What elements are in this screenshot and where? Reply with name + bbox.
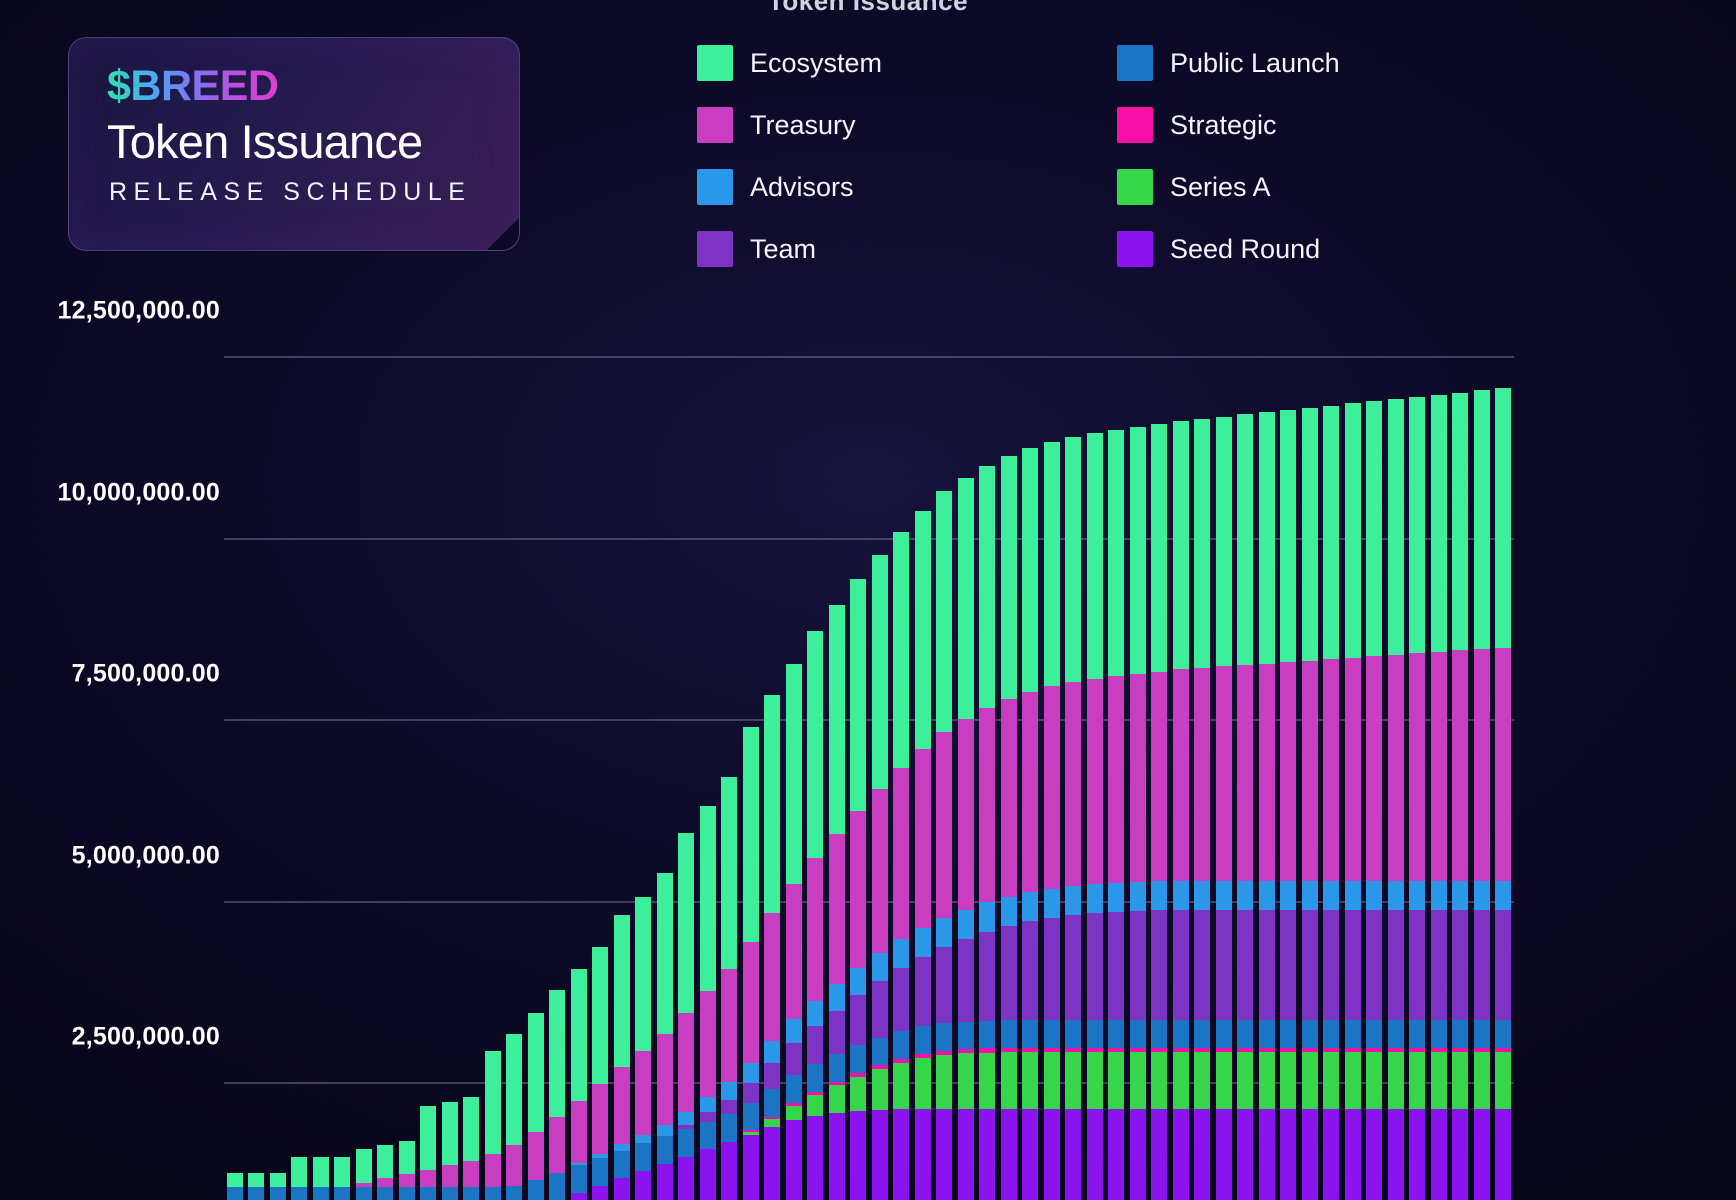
bar-segment-seed-round bbox=[958, 1109, 974, 1200]
bar-segment-public-launch bbox=[936, 1023, 952, 1051]
bar-segment-seed-round bbox=[1388, 1109, 1404, 1200]
bar-segment-treasury bbox=[1474, 649, 1490, 881]
bar-segment-treasury bbox=[872, 789, 888, 953]
bar-segment-ecosystem bbox=[1345, 403, 1361, 657]
bar-segment-advisors bbox=[678, 1112, 694, 1125]
bar-segment-series-a bbox=[1087, 1052, 1103, 1109]
bar-column[interactable] bbox=[482, 311, 504, 1200]
bar-column[interactable] bbox=[418, 311, 440, 1200]
bar-segment-team bbox=[1216, 910, 1232, 1020]
bar-column[interactable] bbox=[1235, 311, 1257, 1200]
bar-segment-ecosystem bbox=[356, 1149, 372, 1182]
bar-column[interactable] bbox=[504, 311, 526, 1200]
bar-segment-public-launch bbox=[1259, 1020, 1275, 1048]
legend-label: Treasury bbox=[750, 110, 856, 141]
bar-segment-public-launch bbox=[1345, 1020, 1361, 1048]
bar-segment-treasury bbox=[377, 1178, 393, 1187]
bar-column[interactable] bbox=[633, 311, 655, 1200]
bar-stack bbox=[1474, 390, 1490, 1200]
bar-column[interactable] bbox=[1321, 311, 1343, 1200]
bar-stack bbox=[1151, 424, 1167, 1200]
bar-segment-series-a bbox=[915, 1058, 931, 1109]
bar-segment-team bbox=[786, 1043, 802, 1075]
bar-column[interactable] bbox=[224, 311, 246, 1200]
bar-segment-seed-round bbox=[1431, 1109, 1447, 1200]
bar-stack bbox=[227, 1173, 243, 1200]
bar-column[interactable] bbox=[783, 311, 805, 1200]
bar-segment-public-launch bbox=[442, 1187, 458, 1200]
bar-column[interactable] bbox=[1493, 311, 1515, 1200]
bar-segment-seed-round bbox=[1216, 1109, 1232, 1200]
bar-segment-team bbox=[1173, 910, 1189, 1020]
legend-swatch-icon bbox=[1117, 107, 1153, 143]
bar-segment-seed-round bbox=[1345, 1109, 1361, 1200]
legend-label: Advisors bbox=[750, 172, 854, 203]
legend-label: Team bbox=[750, 234, 816, 265]
bar-segment-ecosystem bbox=[1216, 417, 1232, 667]
bar-column[interactable] bbox=[1192, 311, 1214, 1200]
bar-segment-advisors bbox=[1452, 881, 1468, 910]
bar-stack bbox=[743, 727, 759, 1200]
bar-segment-ecosystem bbox=[1431, 395, 1447, 652]
bar-segment-team bbox=[872, 981, 888, 1038]
bar-segment-treasury bbox=[1280, 662, 1296, 881]
bar-segment-ecosystem bbox=[1474, 390, 1490, 649]
bar-segment-ecosystem bbox=[549, 990, 565, 1117]
bar-segment-advisors bbox=[1087, 884, 1103, 913]
bar-segment-seed-round bbox=[721, 1142, 737, 1200]
bar-stack bbox=[248, 1173, 264, 1200]
bar-segment-advisors bbox=[1474, 881, 1490, 910]
bar-column[interactable] bbox=[998, 311, 1020, 1200]
bar-column[interactable] bbox=[1041, 311, 1063, 1200]
bar-segment-advisors bbox=[1388, 881, 1404, 910]
bar-column[interactable] bbox=[310, 311, 332, 1200]
bar-column[interactable] bbox=[246, 311, 268, 1200]
bar-segment-public-launch bbox=[635, 1143, 651, 1171]
bar-column[interactable] bbox=[439, 311, 461, 1200]
bar-column[interactable] bbox=[1020, 311, 1042, 1200]
bar-segment-team bbox=[1022, 921, 1038, 1020]
bar-segment-treasury bbox=[614, 1067, 630, 1144]
bar-segment-ecosystem bbox=[334, 1157, 350, 1187]
bar-segment-ecosystem bbox=[764, 695, 780, 913]
bar-segment-public-launch bbox=[1216, 1020, 1232, 1048]
y-axis-tick-label: 12,500,000.00 bbox=[58, 297, 220, 326]
bar-column[interactable] bbox=[1471, 311, 1493, 1200]
bar-column[interactable] bbox=[1342, 311, 1364, 1200]
bar-column[interactable] bbox=[1063, 311, 1085, 1200]
bar-segment-public-launch bbox=[313, 1187, 329, 1200]
bar-column[interactable] bbox=[955, 311, 977, 1200]
bar-segment-public-launch bbox=[786, 1075, 802, 1103]
bar-segment-treasury bbox=[1323, 659, 1339, 881]
bar-segment-advisors bbox=[1108, 883, 1124, 912]
bar-stack bbox=[721, 777, 737, 1200]
bar-segment-team bbox=[936, 947, 952, 1023]
bar-segment-public-launch bbox=[678, 1129, 694, 1157]
bar-segment-ecosystem bbox=[979, 466, 995, 708]
bar-column[interactable] bbox=[375, 311, 397, 1200]
bar-segment-public-launch bbox=[227, 1187, 243, 1200]
bar-segment-public-launch bbox=[872, 1038, 888, 1066]
bar-segment-treasury bbox=[506, 1145, 522, 1186]
bar-segment-public-launch bbox=[506, 1186, 522, 1200]
bar-segment-public-launch bbox=[1022, 1020, 1038, 1048]
bar-segment-treasury bbox=[1173, 669, 1189, 880]
bar-segment-team bbox=[1044, 918, 1060, 1020]
bar-stack bbox=[915, 511, 931, 1200]
bar-segment-seed-round bbox=[1302, 1109, 1318, 1200]
bar-segment-team bbox=[850, 995, 866, 1045]
bar-column[interactable] bbox=[805, 311, 827, 1200]
bar-segment-treasury bbox=[1345, 658, 1361, 881]
legend-swatch-icon bbox=[1117, 169, 1153, 205]
y-axis-tick-label: 5,000,000.00 bbox=[72, 841, 220, 870]
bar-column[interactable] bbox=[1299, 311, 1321, 1200]
bar-segment-ecosystem bbox=[1001, 456, 1017, 699]
legend-label: Strategic bbox=[1170, 110, 1277, 141]
bar-segment-treasury bbox=[1065, 682, 1081, 886]
bar-column[interactable] bbox=[740, 311, 762, 1200]
bar-segment-seed-round bbox=[1452, 1109, 1468, 1200]
bar-segment-advisors bbox=[1259, 881, 1275, 910]
bar-segment-seed-round bbox=[1001, 1109, 1017, 1200]
bar-segment-ecosystem bbox=[1173, 421, 1189, 669]
bar-stack bbox=[657, 873, 673, 1200]
bar-column[interactable] bbox=[332, 311, 354, 1200]
y-axis-tick-label: 10,000,000.00 bbox=[58, 478, 220, 507]
bar-column[interactable] bbox=[848, 311, 870, 1200]
bar-segment-team bbox=[1388, 910, 1404, 1020]
legend-item-public-launch[interactable]: Public Launch bbox=[1117, 45, 1377, 81]
bar-stack bbox=[270, 1173, 286, 1200]
bar-segment-seed-round bbox=[764, 1127, 780, 1200]
cropped-page-title: Token Issuance bbox=[0, 0, 1736, 17]
legend-item-team[interactable]: Team bbox=[697, 231, 1117, 267]
bar-segment-seed-round bbox=[850, 1111, 866, 1200]
bar-segment-advisors bbox=[1044, 889, 1060, 918]
bar-segment-treasury bbox=[915, 749, 931, 928]
bar-segment-treasury bbox=[1388, 655, 1404, 881]
bar-segment-ecosystem bbox=[442, 1102, 458, 1165]
bar-segment-advisors bbox=[807, 1001, 823, 1026]
legend-item-seed-round[interactable]: Seed Round bbox=[1117, 231, 1377, 267]
bar-segment-ecosystem bbox=[1280, 410, 1296, 662]
bar-segment-public-launch bbox=[248, 1187, 264, 1200]
bar-segment-ecosystem bbox=[1388, 399, 1404, 655]
bar-segment-seed-round bbox=[657, 1164, 673, 1200]
bar-stack bbox=[1345, 403, 1361, 1200]
bar-segment-team bbox=[1001, 926, 1017, 1020]
bar-segment-advisors bbox=[1302, 881, 1318, 910]
bar-stack bbox=[334, 1157, 350, 1200]
bar-column[interactable] bbox=[590, 311, 612, 1200]
bar-segment-series-a bbox=[1474, 1052, 1490, 1109]
bar-segment-seed-round bbox=[678, 1157, 694, 1200]
bar-column[interactable] bbox=[869, 311, 891, 1200]
legend-item-series-a[interactable]: Series A bbox=[1117, 169, 1377, 205]
bar-segment-team bbox=[915, 957, 931, 1027]
bar-column[interactable] bbox=[1106, 311, 1128, 1200]
bar-segment-advisors bbox=[829, 984, 845, 1011]
bar-segment-seed-round bbox=[1022, 1109, 1038, 1200]
bar-segment-series-a bbox=[958, 1053, 974, 1108]
bar-stack bbox=[1280, 410, 1296, 1200]
bar-segment-team bbox=[807, 1026, 823, 1064]
bar-stack bbox=[850, 579, 866, 1200]
bar-segment-series-a bbox=[1194, 1052, 1210, 1109]
bar-segment-series-a bbox=[1409, 1052, 1425, 1109]
bar-segment-series-a bbox=[1388, 1052, 1404, 1109]
bar-segment-treasury bbox=[549, 1117, 565, 1172]
bar-segment-ecosystem bbox=[506, 1034, 522, 1145]
bar-segment-treasury bbox=[1194, 668, 1210, 881]
bar-segment-public-launch bbox=[614, 1151, 630, 1179]
bar-segment-advisors bbox=[1409, 881, 1425, 910]
bar-segment-public-launch bbox=[1001, 1020, 1017, 1048]
bar-segment-public-launch bbox=[1087, 1020, 1103, 1048]
bar-segment-series-a bbox=[829, 1085, 845, 1113]
bar-segment-seed-round bbox=[592, 1186, 608, 1200]
bar-segment-ecosystem bbox=[227, 1173, 243, 1188]
bar-column[interactable] bbox=[1149, 311, 1171, 1200]
bar-stack bbox=[1173, 421, 1189, 1200]
bar-stack bbox=[1452, 393, 1468, 1200]
bar-segment-seed-round bbox=[1151, 1109, 1167, 1200]
bar-segment-seed-round bbox=[1409, 1109, 1425, 1200]
bar-segment-seed-round bbox=[893, 1109, 909, 1200]
bar-column[interactable] bbox=[697, 311, 719, 1200]
bar-column[interactable] bbox=[568, 311, 590, 1200]
bar-column[interactable] bbox=[1385, 311, 1407, 1200]
bar-segment-series-a bbox=[1259, 1052, 1275, 1109]
legend-swatch-icon bbox=[1117, 45, 1153, 81]
bar-column[interactable] bbox=[1170, 311, 1192, 1200]
bar-segment-series-a bbox=[1216, 1052, 1232, 1109]
bar-segment-treasury bbox=[786, 884, 802, 1019]
bar-column[interactable] bbox=[676, 311, 698, 1200]
plot-area bbox=[224, 311, 1514, 1200]
bar-segment-ecosystem bbox=[1495, 388, 1511, 647]
brand-ticker: $BREED bbox=[107, 62, 278, 111]
bar-stack bbox=[1495, 388, 1511, 1200]
bar-column[interactable] bbox=[289, 311, 311, 1200]
legend-item-ecosystem[interactable]: Ecosystem bbox=[697, 45, 1117, 81]
bar-column[interactable] bbox=[977, 311, 999, 1200]
bar-segment-public-launch bbox=[1130, 1020, 1146, 1048]
bar-segment-treasury bbox=[1216, 666, 1232, 880]
bar-segment-seed-round bbox=[1323, 1109, 1339, 1200]
bar-segment-treasury bbox=[399, 1174, 415, 1187]
bar-segment-advisors bbox=[764, 1041, 780, 1063]
bar-segment-team bbox=[1130, 911, 1146, 1020]
bar-segment-treasury bbox=[936, 732, 952, 918]
bar-segment-treasury bbox=[893, 768, 909, 939]
bar-segment-ecosystem bbox=[1366, 401, 1382, 656]
bar-segment-advisors bbox=[1065, 886, 1081, 915]
bar-column[interactable] bbox=[353, 311, 375, 1200]
bar-segment-public-launch bbox=[1194, 1020, 1210, 1048]
bar-column[interactable] bbox=[1364, 311, 1386, 1200]
brand-subtitle: RELEASE SCHEDULE bbox=[109, 178, 471, 207]
bar-segment-team bbox=[1194, 910, 1210, 1020]
bar-column[interactable] bbox=[1450, 311, 1472, 1200]
bar-column[interactable] bbox=[1127, 311, 1149, 1200]
bar-segment-ecosystem bbox=[592, 947, 608, 1084]
bar-segment-series-a bbox=[850, 1077, 866, 1111]
bar-column[interactable] bbox=[912, 311, 934, 1200]
bar-segment-seed-round bbox=[979, 1109, 995, 1200]
bar-column[interactable] bbox=[547, 311, 569, 1200]
bar-segment-public-launch bbox=[979, 1021, 995, 1049]
legend-item-treasury[interactable]: Treasury bbox=[697, 107, 1117, 143]
bar-stack bbox=[528, 1013, 544, 1200]
bar-column[interactable] bbox=[525, 311, 547, 1200]
bar-segment-public-launch bbox=[829, 1054, 845, 1082]
bar-stack bbox=[1001, 456, 1017, 1200]
bar-segment-treasury bbox=[1366, 656, 1382, 880]
bar-segment-ecosystem bbox=[872, 555, 888, 789]
bar-segment-treasury bbox=[485, 1154, 501, 1187]
bar-series-group bbox=[224, 311, 1514, 1200]
bar-segment-ecosystem bbox=[313, 1157, 329, 1187]
bar-stack bbox=[764, 695, 780, 1200]
bar-segment-public-launch bbox=[1409, 1020, 1425, 1048]
bar-column[interactable] bbox=[1278, 311, 1300, 1200]
bar-stack bbox=[442, 1102, 458, 1200]
bar-segment-series-a bbox=[1495, 1052, 1511, 1109]
legend-item-advisors[interactable]: Advisors bbox=[697, 169, 1117, 205]
bar-segment-treasury bbox=[1409, 653, 1425, 880]
bar-segment-ecosystem bbox=[1087, 433, 1103, 679]
y-axis-tick-label: 7,500,000.00 bbox=[72, 660, 220, 689]
bar-segment-team bbox=[1474, 910, 1490, 1020]
bar-column[interactable] bbox=[762, 311, 784, 1200]
bar-segment-team bbox=[893, 968, 909, 1031]
bar-segment-series-a bbox=[893, 1063, 909, 1109]
bar-segment-ecosystem bbox=[1044, 442, 1060, 686]
bar-column[interactable] bbox=[1084, 311, 1106, 1200]
bar-segment-advisors bbox=[936, 918, 952, 947]
bar-segment-team bbox=[764, 1063, 780, 1089]
bar-segment-series-a bbox=[1431, 1052, 1447, 1109]
legend-item-strategic[interactable]: Strategic bbox=[1117, 107, 1377, 143]
bar-segment-team bbox=[1366, 910, 1382, 1020]
bar-segment-ecosystem bbox=[657, 873, 673, 1034]
bar-stack bbox=[635, 897, 651, 1200]
bar-segment-team bbox=[1151, 910, 1167, 1020]
bar-segment-series-a bbox=[1022, 1052, 1038, 1109]
legend-label: Public Launch bbox=[1170, 48, 1340, 79]
bar-segment-series-a bbox=[764, 1119, 780, 1128]
bar-column[interactable] bbox=[396, 311, 418, 1200]
bar-segment-treasury bbox=[1151, 672, 1167, 882]
bar-segment-team bbox=[979, 932, 995, 1021]
bar-column[interactable] bbox=[934, 311, 956, 1200]
bar-segment-treasury bbox=[1108, 676, 1124, 883]
bar-column[interactable] bbox=[826, 311, 848, 1200]
bar-segment-advisors bbox=[1173, 881, 1189, 910]
bar-stack bbox=[506, 1034, 522, 1200]
bar-segment-ecosystem bbox=[807, 631, 823, 858]
bar-segment-seed-round bbox=[1173, 1109, 1189, 1200]
bar-segment-treasury bbox=[635, 1051, 651, 1135]
bar-segment-treasury bbox=[850, 811, 866, 968]
bar-segment-public-launch bbox=[764, 1089, 780, 1117]
bar-segment-advisors bbox=[893, 939, 909, 968]
bar-segment-ecosystem bbox=[850, 579, 866, 811]
bar-segment-seed-round bbox=[786, 1120, 802, 1200]
bar-segment-series-a bbox=[1173, 1052, 1189, 1109]
bar-column[interactable] bbox=[267, 311, 289, 1200]
bar-stack bbox=[1366, 401, 1382, 1200]
bar-segment-ecosystem bbox=[1065, 437, 1081, 682]
bar-segment-public-launch bbox=[291, 1187, 307, 1200]
bar-segment-team bbox=[1280, 910, 1296, 1020]
bar-column[interactable] bbox=[461, 311, 483, 1200]
bar-segment-seed-round bbox=[915, 1109, 931, 1200]
bar-column[interactable] bbox=[891, 311, 913, 1200]
legend-swatch-icon bbox=[1117, 231, 1153, 267]
bar-segment-treasury bbox=[721, 969, 737, 1082]
bar-segment-advisors bbox=[1151, 881, 1167, 910]
bar-stack bbox=[592, 947, 608, 1200]
bar-segment-ecosystem bbox=[1452, 393, 1468, 651]
bar-segment-treasury bbox=[1237, 665, 1253, 881]
bar-column[interactable] bbox=[1213, 311, 1235, 1200]
bar-segment-advisors bbox=[657, 1125, 673, 1136]
bar-column[interactable] bbox=[1428, 311, 1450, 1200]
bar-column[interactable] bbox=[1256, 311, 1278, 1200]
legend-label: Seed Round bbox=[1170, 234, 1320, 265]
legend-label: Ecosystem bbox=[750, 48, 882, 79]
bar-segment-series-a bbox=[1001, 1052, 1017, 1109]
bar-column[interactable] bbox=[611, 311, 633, 1200]
bar-segment-seed-round bbox=[635, 1171, 651, 1200]
bar-segment-team bbox=[743, 1083, 759, 1103]
bar-segment-seed-round bbox=[807, 1116, 823, 1200]
bar-segment-seed-round bbox=[1194, 1109, 1210, 1200]
bar-segment-ecosystem bbox=[248, 1173, 264, 1188]
bar-column[interactable] bbox=[719, 311, 741, 1200]
bar-segment-public-launch bbox=[1280, 1020, 1296, 1048]
bar-segment-treasury bbox=[528, 1132, 544, 1180]
bar-segment-public-launch bbox=[807, 1064, 823, 1092]
bar-segment-public-launch bbox=[270, 1187, 286, 1200]
bar-segment-ecosystem bbox=[1409, 397, 1425, 653]
bar-segment-public-launch bbox=[1302, 1020, 1318, 1048]
bar-column[interactable] bbox=[654, 311, 676, 1200]
bar-segment-advisors bbox=[1366, 881, 1382, 910]
bar-segment-advisors bbox=[1345, 881, 1361, 910]
bar-segment-seed-round bbox=[1280, 1109, 1296, 1200]
bar-stack bbox=[614, 915, 630, 1200]
bar-segment-public-launch bbox=[485, 1187, 501, 1200]
bar-segment-team bbox=[1108, 912, 1124, 1020]
bar-stack bbox=[1216, 417, 1232, 1200]
bar-segment-series-a bbox=[1130, 1052, 1146, 1109]
bar-segment-series-a bbox=[1237, 1052, 1253, 1109]
bar-segment-team bbox=[829, 1011, 845, 1055]
bar-segment-public-launch bbox=[463, 1187, 479, 1200]
bar-segment-ecosystem bbox=[721, 777, 737, 969]
bar-segment-public-launch bbox=[1366, 1020, 1382, 1048]
bar-segment-ecosystem bbox=[377, 1145, 393, 1178]
bar-segment-series-a bbox=[1108, 1052, 1124, 1109]
bar-column[interactable] bbox=[1407, 311, 1429, 1200]
bar-segment-ecosystem bbox=[1237, 414, 1253, 665]
